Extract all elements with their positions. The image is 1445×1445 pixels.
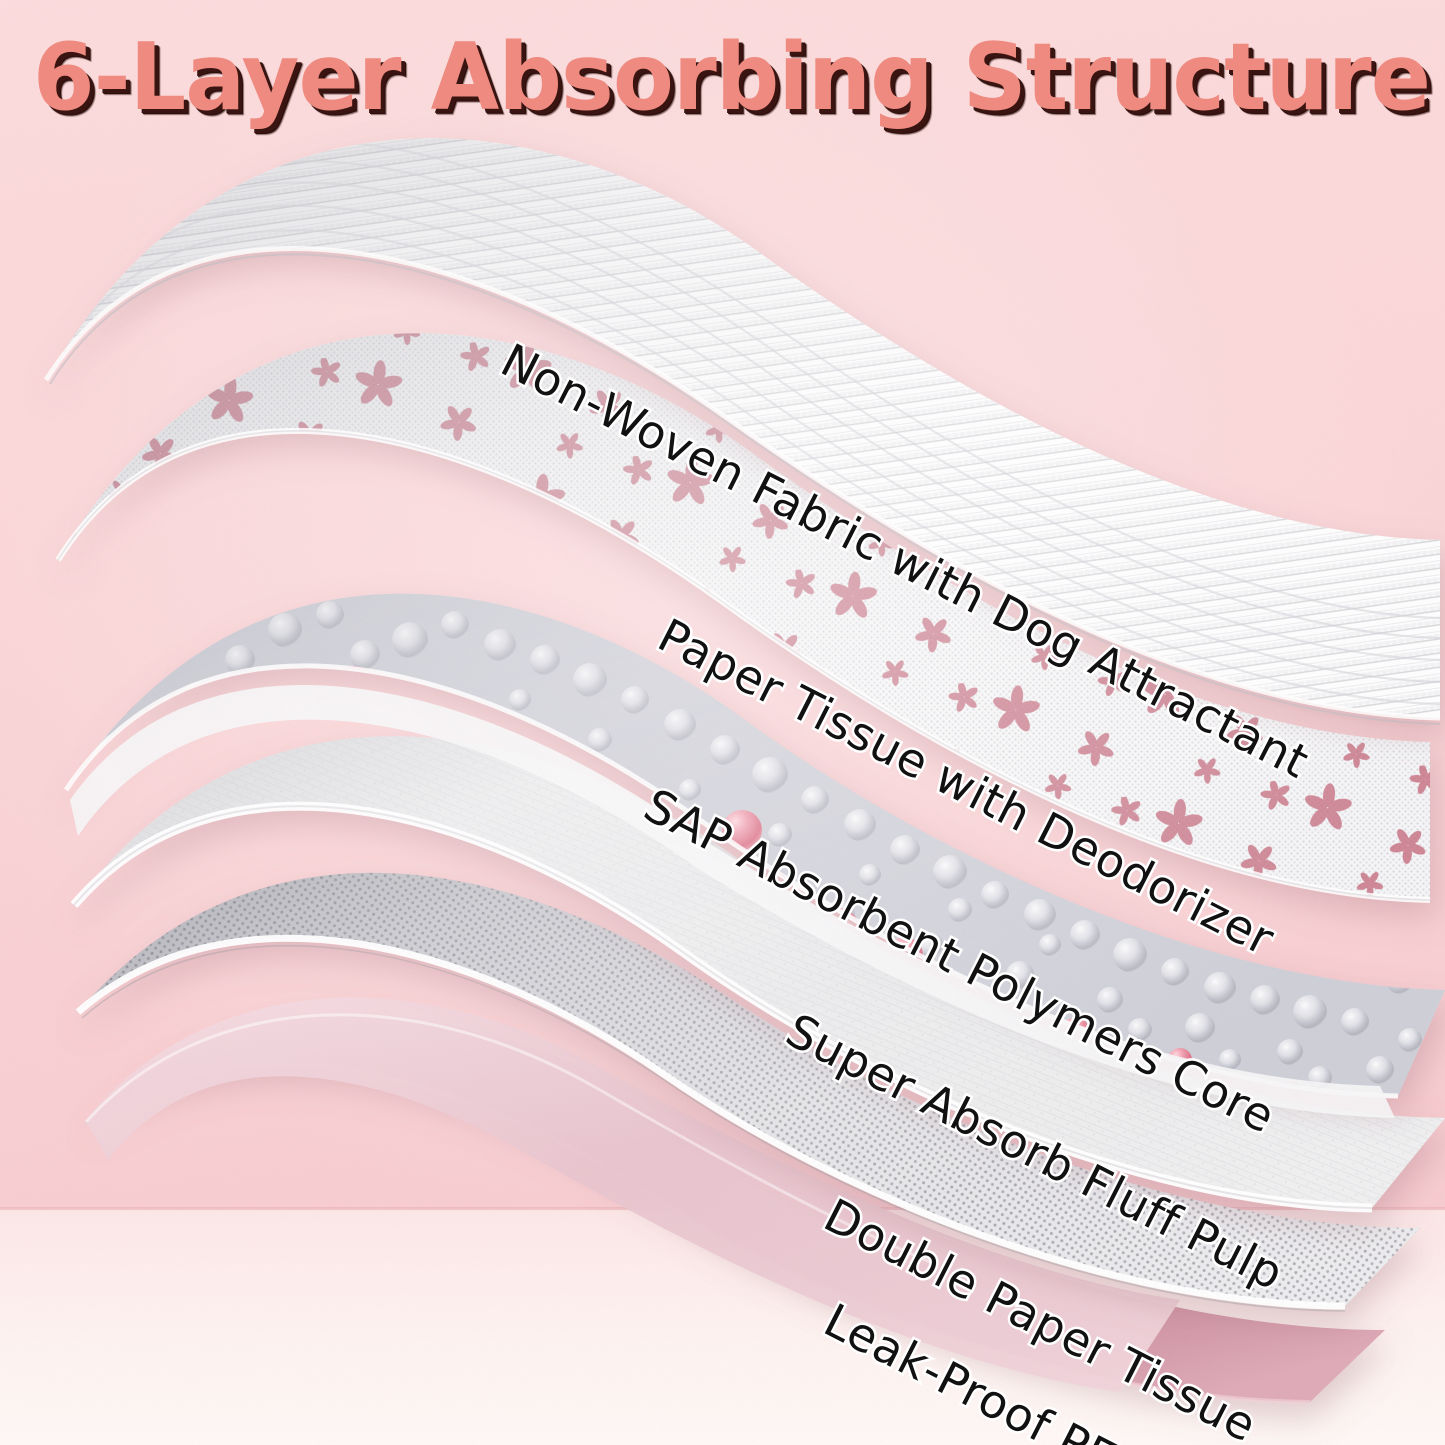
infographic-canvas: 6-Layer Absorbing Structure Non-Woven Fa… — [0, 0, 1445, 1445]
